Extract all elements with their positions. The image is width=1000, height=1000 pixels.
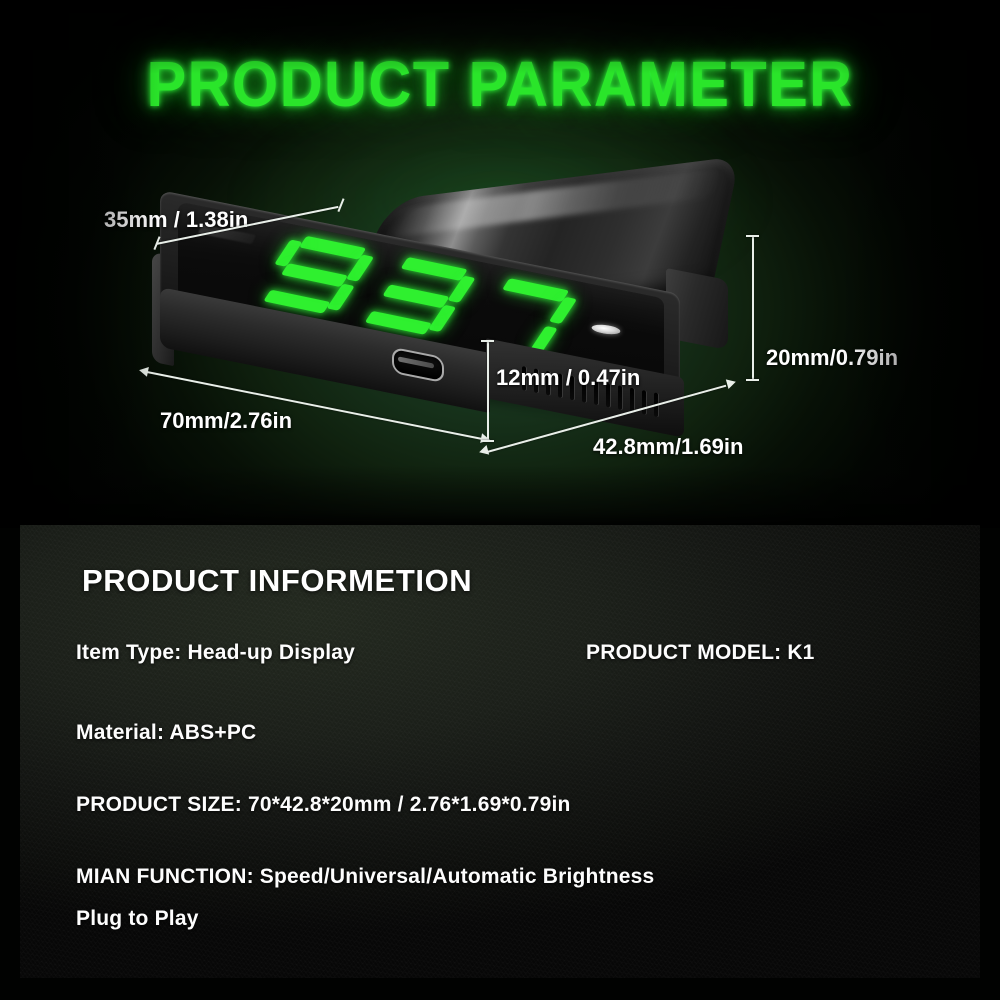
product-information-panel: PRODUCT INFORMETION Item Type: Head-up D… xyxy=(20,525,980,978)
info-row-material: Material: ABS+PC xyxy=(76,721,256,745)
hero-section: PRODUCT PARAMETER xyxy=(0,0,1000,528)
info-row-product-model: PRODUCT MODEL: K1 xyxy=(586,641,815,665)
info-row-main-function: MIAN FUNCTION: Speed/Universal/Automatic… xyxy=(76,865,654,889)
info-row-main-function-line2: Plug to Play xyxy=(76,907,199,931)
info-row-product-size: PRODUCT SIZE: 70*42.8*20mm / 2.76*1.69*0… xyxy=(76,793,571,817)
hero-vignette xyxy=(0,0,1000,528)
info-row-item-type: Item Type: Head-up Display xyxy=(76,641,355,665)
info-panel-heading: PRODUCT INFORMETION xyxy=(82,563,472,599)
product-parameter-infographic: PRODUCT PARAMETER xyxy=(0,0,1000,1000)
